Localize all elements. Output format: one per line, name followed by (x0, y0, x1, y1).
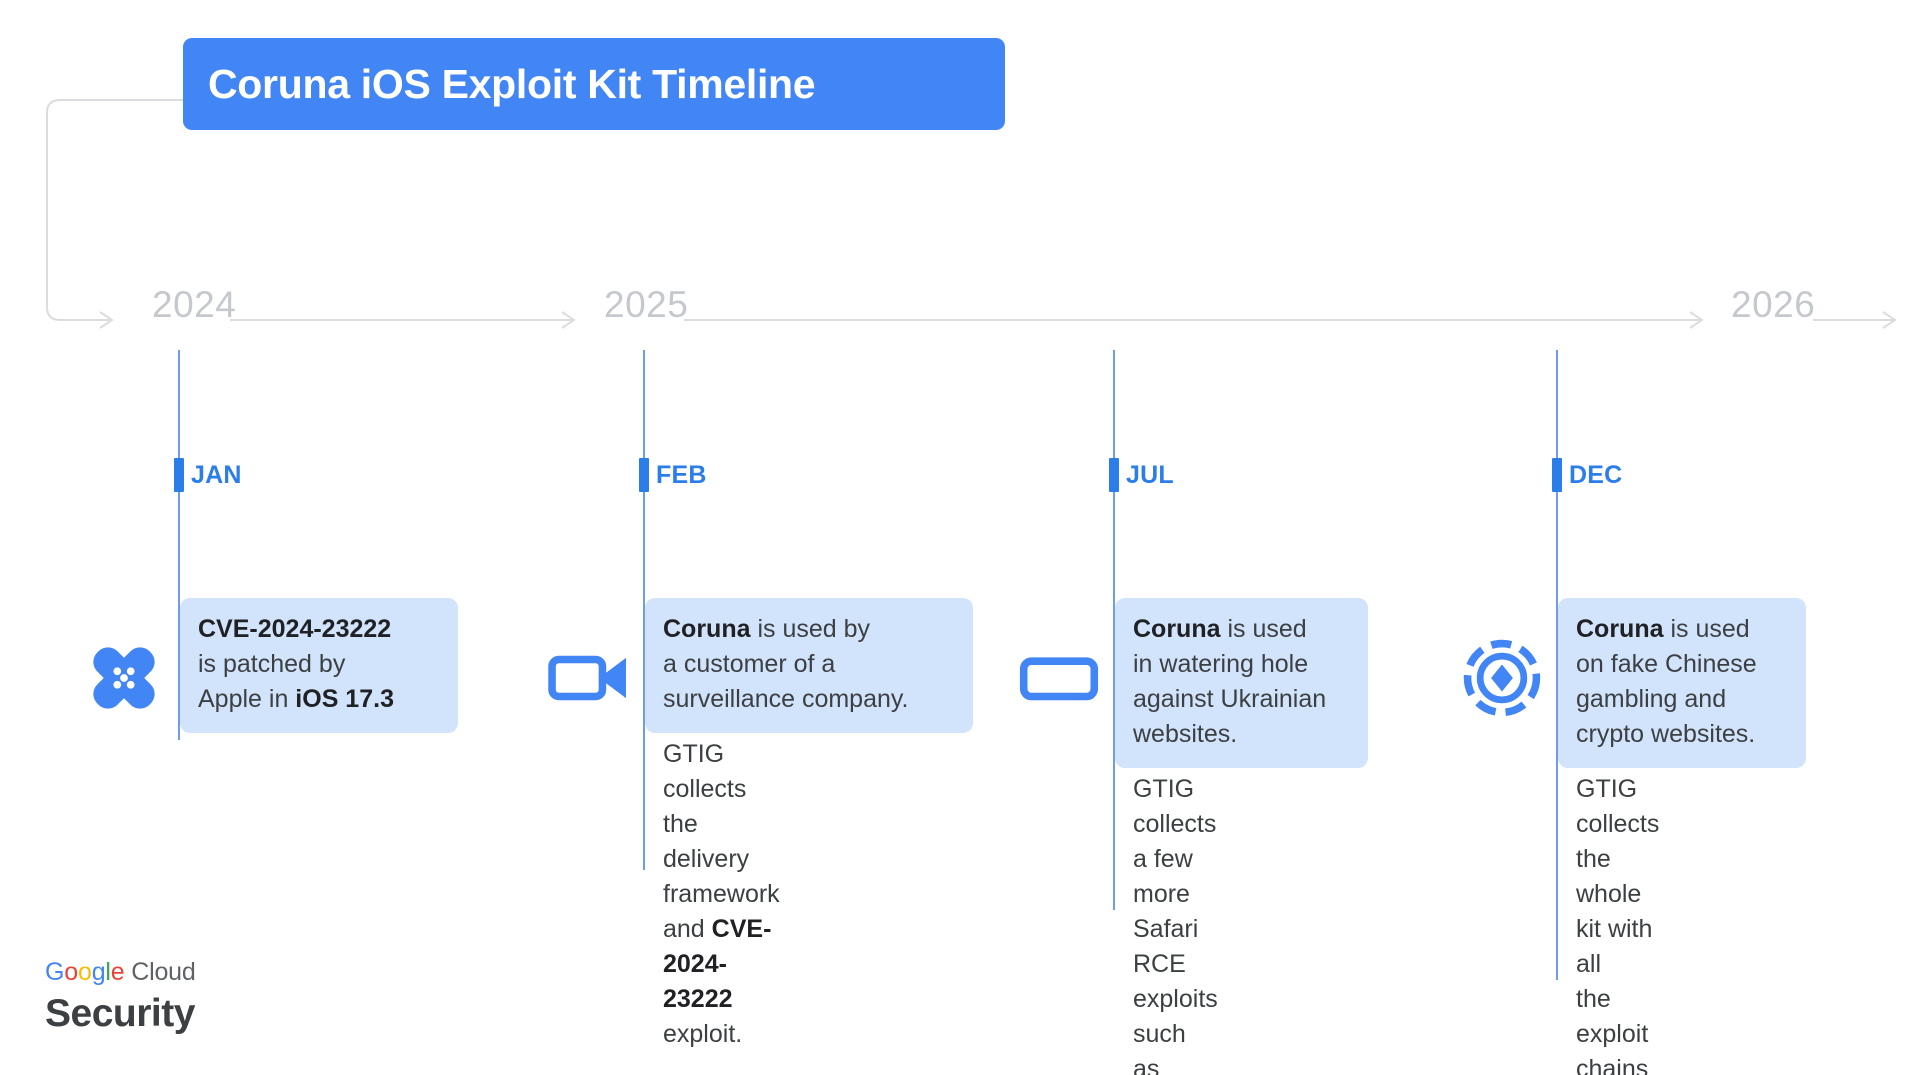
event-detail-text: GTIG collects a fewmore Safari RCEexploi… (1133, 772, 1218, 1075)
plain-text: is used by (751, 615, 871, 643)
callout-text: Coruna is used bya customer of asurveill… (663, 612, 953, 717)
plain-text: GTIG collects the (1576, 775, 1666, 873)
detail-line: more Safari RCE (1133, 877, 1218, 982)
detail-line: GTIG collects the (1576, 772, 1670, 877)
emphasis-text: Coruna (1133, 615, 1221, 643)
month-marker: FEB (639, 458, 707, 492)
month-label: FEB (656, 461, 707, 490)
page-title: Coruna iOS Exploit Kit Timeline (208, 61, 815, 108)
plain-text: is patched by (198, 650, 345, 678)
month-tick (1109, 458, 1119, 492)
timeline-infographic: Coruna iOS Exploit Kit Timeline 2024 202… (0, 0, 1920, 1075)
month-tick (639, 458, 649, 492)
video-camera-icon (547, 636, 631, 720)
detail-line: delivery framework (663, 842, 780, 912)
month-tick (174, 458, 184, 492)
month-label: JUL (1126, 461, 1174, 490)
callout-line: in watering hole (1133, 647, 1348, 682)
callout-line: against Ukrainian (1133, 682, 1348, 717)
callout-text: CVE-2024-23222is patched byApple in iOS … (198, 612, 438, 717)
logo-security-word: Security (45, 990, 196, 1038)
event-callout: Coruna is usedin watering holeagainst Uk… (1115, 598, 1368, 768)
callout-text: Coruna is usedin watering holeagainst Uk… (1133, 612, 1348, 752)
title-banner: Coruna iOS Exploit Kit Timeline (183, 38, 1005, 130)
logo-letter: o (78, 958, 92, 986)
month-marker: JAN (174, 458, 242, 492)
casino-chip-icon (1460, 636, 1544, 720)
emphasis-text: Coruna (1576, 615, 1664, 643)
plain-text: against Ukrainian (1133, 685, 1326, 713)
plain-text: in watering hole (1133, 650, 1308, 678)
plain-text: GTIG collects a few (1133, 775, 1223, 873)
logo-letter: e (111, 958, 125, 986)
detail-line: whole kit with all (1576, 877, 1670, 982)
detail-line: exploit. (663, 1017, 780, 1052)
plain-text: crypto websites. (1576, 720, 1755, 748)
callout-text: Coruna is usedon fake Chinesegambling an… (1576, 612, 1786, 752)
plain-text: delivery framework (663, 845, 780, 908)
callout-line: gambling and (1576, 682, 1786, 717)
month-label: DEC (1569, 461, 1622, 490)
plain-text: Apple in (198, 685, 295, 713)
callout-line: a customer of a (663, 647, 953, 682)
year-label-2025: 2025 (604, 284, 688, 326)
callout-line: on fake Chinese (1576, 647, 1786, 682)
emphasis-text: Coruna (663, 615, 751, 643)
detail-line: GTIG collects the (663, 737, 780, 842)
browser-window-icon (1017, 636, 1101, 720)
plain-text: a customer of a (663, 650, 835, 678)
emphasis-text: CVE-2024-23222 (198, 615, 391, 643)
logo-cloud-word: Cloud (124, 958, 195, 986)
month-marker: JUL (1109, 458, 1174, 492)
logo-letter: g (92, 958, 106, 986)
callout-line: is patched by (198, 647, 438, 682)
month-tick (1552, 458, 1562, 492)
detail-line: exploits such as (1133, 982, 1218, 1075)
event-detail-text: GTIG collects thewhole kit with allthe e… (1576, 772, 1670, 1075)
bandage-icon (82, 636, 166, 720)
callout-line: crypto websites. (1576, 717, 1786, 752)
detail-line: the exploit chains (1576, 982, 1670, 1075)
plain-text: more Safari RCE (1133, 880, 1205, 978)
callout-line: surveillance company. (663, 682, 953, 717)
logo-google-cloud: Google Cloud (45, 957, 196, 987)
plain-text: websites. (1133, 720, 1237, 748)
plain-text: gambling and (1576, 685, 1726, 713)
logo-letter: o (64, 958, 78, 986)
detail-line: and CVE-2024-23222 (663, 912, 780, 1017)
event-detail-text: GTIG collects thedelivery frameworkand C… (663, 737, 780, 1052)
event-callout: Coruna is used bya customer of asurveill… (645, 598, 973, 733)
month-label: JAN (191, 461, 242, 490)
plain-text: the exploit chains (1576, 985, 1655, 1075)
logo-letter: G (45, 958, 64, 986)
callout-line: Coruna is used (1576, 612, 1786, 647)
callout-line: websites. (1133, 717, 1348, 752)
event-callout: Coruna is usedon fake Chinesegambling an… (1558, 598, 1806, 768)
year-label-2026: 2026 (1731, 284, 1815, 326)
plain-text: on fake Chinese (1576, 650, 1757, 678)
plain-text: and (663, 915, 712, 943)
plain-text: is used (1221, 615, 1307, 643)
google-cloud-security-logo: Google Cloud Security (45, 957, 196, 1038)
callout-line: Apple in iOS 17.3 (198, 682, 438, 717)
plain-text: is used (1664, 615, 1750, 643)
plain-text: GTIG collects the (663, 740, 753, 838)
plain-text: surveillance company. (663, 685, 908, 713)
callout-line: CVE-2024-23222 (198, 612, 438, 647)
plain-text: exploits such as (1133, 985, 1225, 1075)
year-label-2024: 2024 (152, 284, 236, 326)
callout-line: Coruna is used by (663, 612, 953, 647)
plain-text: exploit. (663, 1020, 742, 1048)
emphasis-text: iOS 17.3 (295, 685, 394, 713)
month-marker: DEC (1552, 458, 1622, 492)
event-callout: CVE-2024-23222is patched byApple in iOS … (180, 598, 458, 733)
plain-text: whole kit with all (1576, 880, 1659, 978)
callout-line: Coruna is used (1133, 612, 1348, 647)
detail-line: GTIG collects a few (1133, 772, 1218, 877)
